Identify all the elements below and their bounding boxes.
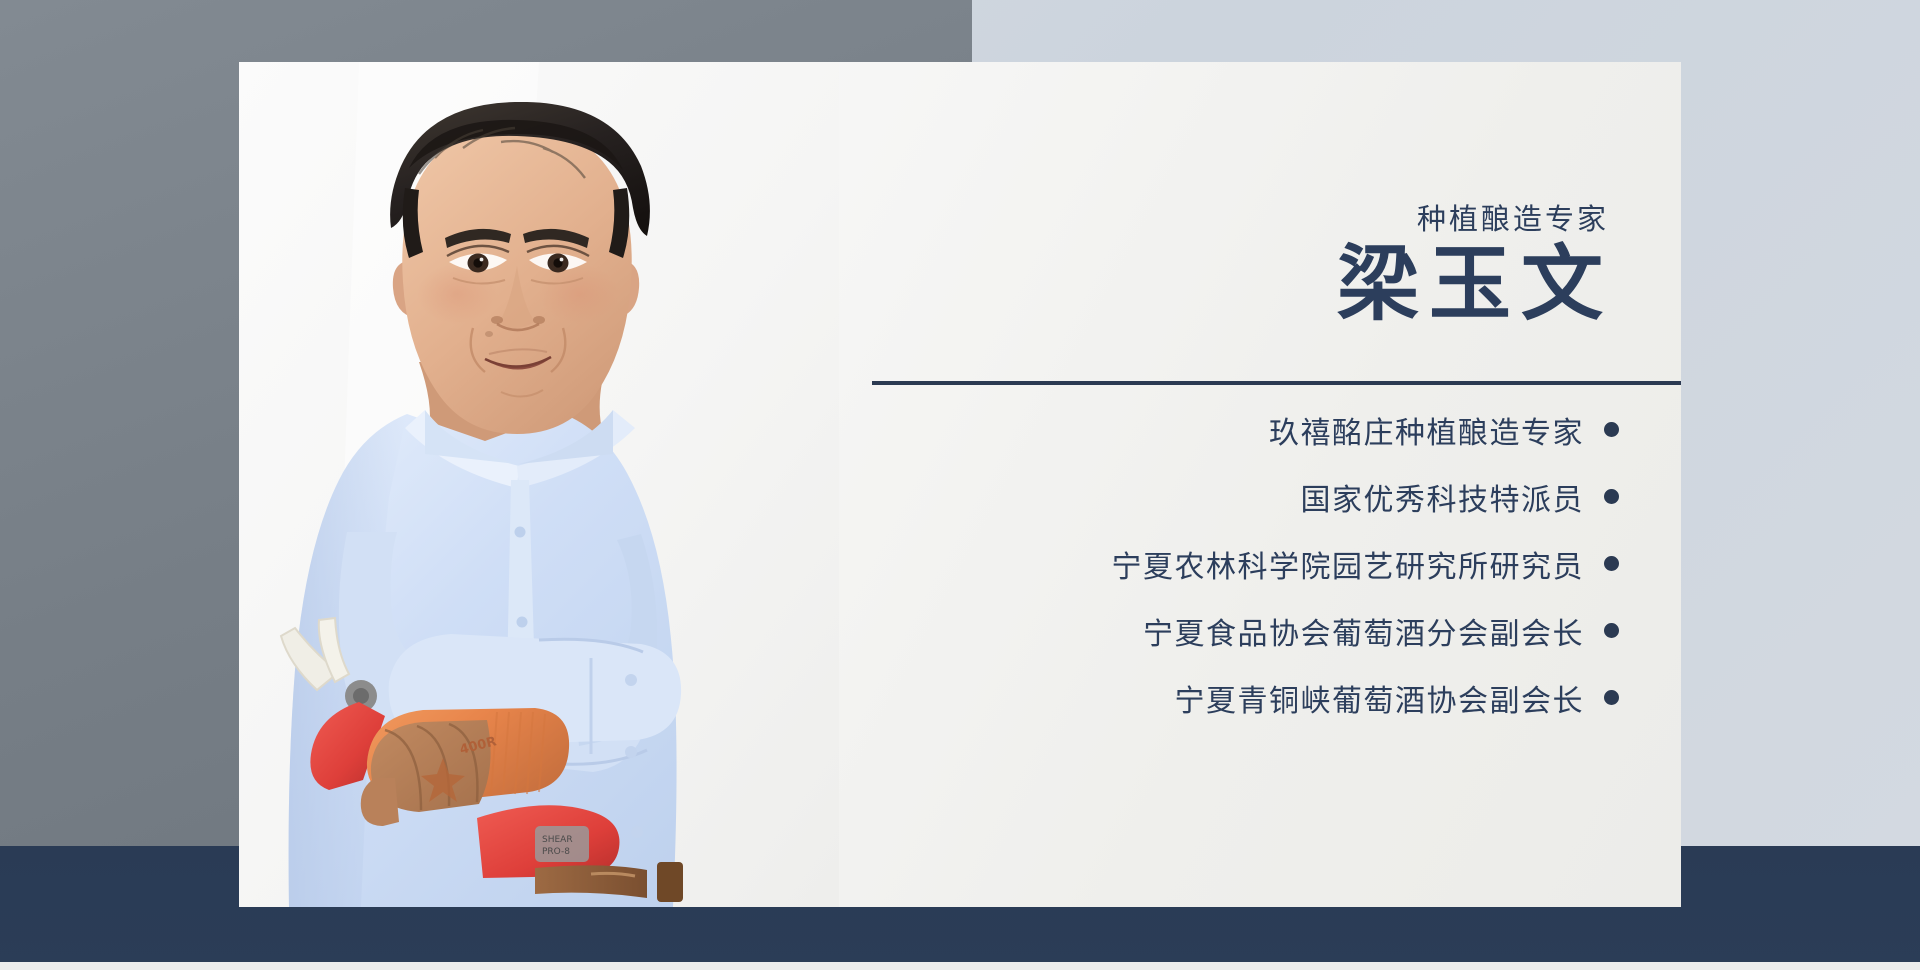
bullet-dot-icon <box>1604 623 1619 638</box>
bullet-dot-icon <box>1604 422 1619 437</box>
expert-info-column: 种植酿造专家 梁玉文 玖禧酩庄种植酿造专家 国家优秀科技特派员 宁夏农林科学院园… <box>879 62 1681 907</box>
profile-card: SHEAR PRO-8 <box>239 62 1681 907</box>
bullet-dot-icon <box>1604 489 1619 504</box>
list-item: 国家优秀科技特派员 <box>919 463 1619 530</box>
poster-canvas: SHEAR PRO-8 <box>0 0 1920 970</box>
credential-label: 玖禧酩庄种植酿造专家 <box>1269 408 1584 452</box>
list-item: 玖禧酩庄种植酿造专家 <box>919 396 1619 463</box>
svg-text:SHEAR: SHEAR <box>542 835 573 845</box>
list-item: 宁夏食品协会葡萄酒分会副会长 <box>919 597 1619 664</box>
credential-label: 宁夏青铜峡葡萄酒协会副会长 <box>1175 676 1585 720</box>
list-item: 宁夏农林科学院园艺研究所研究员 <box>919 530 1619 597</box>
svg-text:PRO-8: PRO-8 <box>542 847 570 857</box>
bullet-dot-icon <box>1604 556 1619 571</box>
list-item: 宁夏青铜峡葡萄酒协会副会长 <box>919 664 1619 731</box>
bullet-dot-icon <box>1604 690 1619 705</box>
expert-portrait-photo: SHEAR PRO-8 <box>239 62 839 907</box>
credential-label: 国家优秀科技特派员 <box>1301 475 1585 519</box>
credential-label: 宁夏食品协会葡萄酒分会副会长 <box>1143 609 1584 653</box>
horizontal-divider <box>872 381 1681 385</box>
background-bottom-strip <box>0 962 1920 970</box>
credential-label: 宁夏农林科学院园艺研究所研究员 <box>1112 542 1585 586</box>
expert-role-eyebrow: 种植酿造专家 <box>1417 196 1609 238</box>
expert-name: 梁玉文 <box>1337 244 1613 326</box>
credentials-list: 玖禧酩庄种植酿造专家 国家优秀科技特派员 宁夏农林科学院园艺研究所研究员 宁夏食… <box>919 396 1619 731</box>
